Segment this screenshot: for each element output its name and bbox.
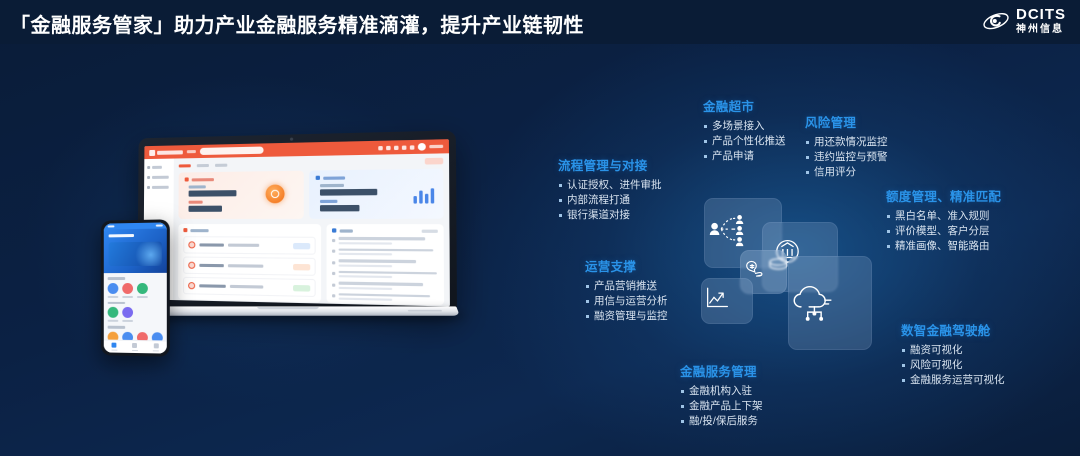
galaxy-swirl-icon <box>982 8 1010 34</box>
coin-icon <box>265 184 284 203</box>
dashboard-topbar-icons <box>378 143 443 152</box>
list-item[interactable] <box>332 293 438 302</box>
phone-banner <box>104 228 167 273</box>
phone-tab-home[interactable] <box>111 343 117 351</box>
block-risk-management: 风险管理 用还款情况监控 违约监控与预警 信用评分 <box>805 112 888 180</box>
block-list: 黑白名单、准入规则 评价模型、客户分层 精准画像、智能路由 <box>886 209 1001 254</box>
list-item: 金融服务运营可视化 <box>901 373 1005 388</box>
laptop-dashboard-mockup <box>137 130 457 314</box>
list-item[interactable] <box>332 281 438 290</box>
list-item: 用还款情况监控 <box>805 135 888 150</box>
laptop-edge-detail <box>408 310 443 312</box>
block-list: 金融机构入驻 金融产品上下架 融/投/保后服务 <box>680 384 763 429</box>
laptop-trackpad-notch <box>257 307 319 309</box>
list-item: 内部流程打通 <box>558 193 662 208</box>
list-item: 多场景接入 <box>703 119 786 134</box>
slide-canvas: 「金融服务管家」助力产业金融服务精准滴灌，提升产业链韧性 DCITS 神州信息 <box>0 0 1080 456</box>
list-item[interactable] <box>332 270 438 279</box>
timeline-row[interactable] <box>183 257 315 276</box>
list-item: 评价模型、客户分层 <box>886 224 1001 239</box>
block-operation-support: 运营支撑 产品营销推送 用信与运营分析 融资管理与监控 <box>585 256 668 324</box>
page-title: 「金融服务管家」助力产业金融服务精准滴灌，提升产业链韧性 <box>10 9 584 38</box>
stat-card-credit <box>178 171 303 219</box>
block-quota-matching: 额度管理、精准匹配 黑白名单、准入规则 评价模型、客户分层 精准画像、智能路由 <box>886 186 1001 254</box>
bar-chart-icon <box>413 186 434 203</box>
list-item: 黑白名单、准入规则 <box>886 209 1001 224</box>
phone-screen <box>104 222 167 353</box>
feature-icon-cluster <box>700 190 880 375</box>
phone-app-icon[interactable] <box>108 283 119 298</box>
phone-app-icon[interactable] <box>122 307 133 322</box>
phone-app-icon[interactable] <box>122 283 133 298</box>
cloud-tech-icon <box>789 277 871 328</box>
block-title: 金融服务管理 <box>680 361 763 380</box>
dashboard-panels <box>178 224 444 305</box>
dashboard-body <box>143 153 450 306</box>
list-item: 产品营销推送 <box>585 279 668 294</box>
stat-card-customers <box>309 169 444 219</box>
list-item: 金融产品上下架 <box>680 399 763 414</box>
list-item: 融资管理与监控 <box>585 309 668 324</box>
timeline-row[interactable] <box>183 277 316 297</box>
phone-tabbar <box>104 340 167 354</box>
dashboard-search-input[interactable] <box>200 147 264 155</box>
list-item: 信用评分 <box>805 165 888 180</box>
list-item: 产品申请 <box>703 149 786 164</box>
dashboard-action-button[interactable] <box>425 158 444 165</box>
block-list: 用还款情况监控 违约监控与预警 信用评分 <box>805 135 888 180</box>
block-title: 风险管理 <box>805 112 888 131</box>
block-title: 数智金融驾驶舱 <box>901 320 1005 339</box>
dashboard-brand <box>149 149 183 156</box>
timeline-row[interactable] <box>183 236 315 255</box>
block-finance-supermarket: 金融超市 多场景接入 产品个性化推送 产品申请 <box>703 96 786 164</box>
phone-tab-service[interactable] <box>132 343 138 351</box>
laptop-camera <box>290 138 293 141</box>
phone-app-icon[interactable] <box>137 282 148 297</box>
device-mockups <box>100 135 460 350</box>
list-item[interactable] <box>332 259 438 267</box>
block-digital-finance-cockpit: 数智金融驾驶舱 融资可视化 风险可视化 金融服务运营可视化 <box>901 320 1005 388</box>
dashboard-stat-cards <box>178 169 443 219</box>
laptop-screen <box>143 139 450 306</box>
block-title: 额度管理、精准匹配 <box>886 186 1001 205</box>
list-item: 精准画像、智能路由 <box>886 239 1001 254</box>
block-list: 认证授权、进件审批 内部流程打通 银行渠道对接 <box>558 178 662 223</box>
phone-hero-card <box>109 242 162 267</box>
list-item: 用信与运营分析 <box>585 294 668 309</box>
dashboard-main <box>173 153 450 306</box>
list-item: 融资可视化 <box>901 343 1005 358</box>
list-item: 违约监控与预警 <box>805 150 888 165</box>
list-item: 金融机构入驻 <box>680 384 763 399</box>
list-item: 产品个性化推送 <box>703 134 786 149</box>
brand-logo: DCITS 神州信息 <box>982 7 1066 35</box>
block-title: 金融超市 <box>703 96 786 115</box>
block-financial-service-management: 金融服务管理 金融机构入驻 金融产品上下架 融/投/保后服务 <box>680 361 763 429</box>
list-item: 银行渠道对接 <box>558 208 662 223</box>
phone-tab-mine[interactable] <box>153 343 159 351</box>
list-item[interactable] <box>332 248 438 256</box>
avatar <box>418 143 426 151</box>
block-list: 融资可视化 风险可视化 金融服务运营可视化 <box>901 343 1005 388</box>
block-list: 多场景接入 产品个性化推送 产品申请 <box>703 119 786 164</box>
icon-card-cloud-tech <box>788 256 872 350</box>
logo-text-en: DCITS <box>1016 7 1066 22</box>
dashboard-news-panel <box>326 224 444 305</box>
list-item: 认证授权、进件审批 <box>558 178 662 193</box>
logo-text-cn: 神州信息 <box>1016 25 1066 35</box>
block-title: 运营支撑 <box>585 256 668 275</box>
block-process-management: 流程管理与对接 认证授权、进件审批 内部流程打通 银行渠道对接 <box>558 155 662 223</box>
list-item[interactable] <box>332 237 438 245</box>
block-list: 产品营销推送 用信与运营分析 融资管理与监控 <box>585 279 668 324</box>
block-title: 流程管理与对接 <box>558 155 662 174</box>
phone-app-mockup <box>101 219 170 356</box>
dashboard-timeline-panel <box>178 224 321 302</box>
icon-card-growth-chart <box>701 278 753 324</box>
dashboard-tabs <box>179 158 444 169</box>
list-item: 风险可视化 <box>901 358 1005 373</box>
phone-app-icon[interactable] <box>108 307 119 322</box>
list-item: 融/投/保后服务 <box>680 414 763 429</box>
growth-chart-icon <box>702 284 752 317</box>
